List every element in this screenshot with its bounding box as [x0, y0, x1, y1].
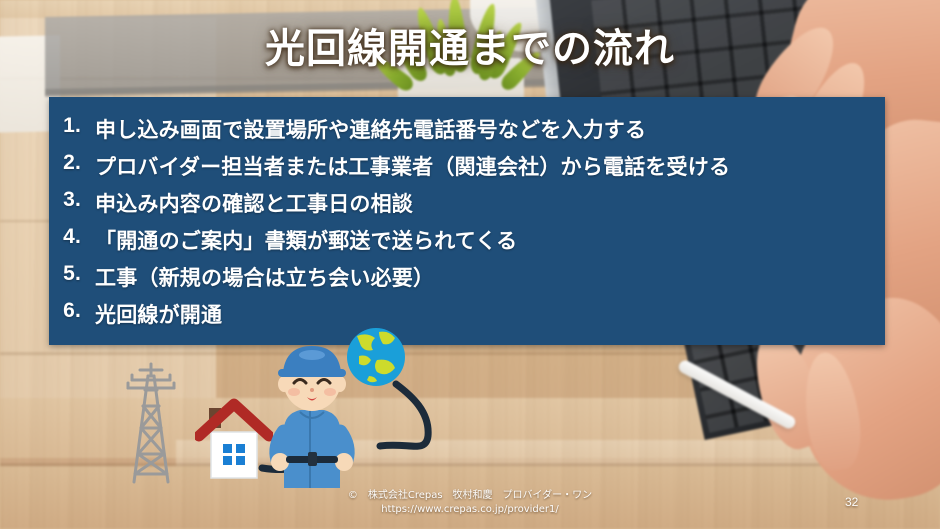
list-item: 5. 工事（新規の場合は立ち会い必要）	[49, 262, 885, 299]
footer-url: https://www.crepas.co.jp/provider1/	[0, 503, 940, 517]
steps-panel: 1. 申し込み画面で設置場所や連絡先電話番号などを入力する 2. プロバイダー担…	[49, 97, 885, 345]
list-item-number: 3.	[49, 188, 95, 212]
globe-icon	[345, 326, 407, 388]
steps-list: 1. 申し込み画面で設置場所や連絡先電話番号などを入力する 2. プロバイダー担…	[49, 97, 885, 345]
list-item-number: 1.	[49, 114, 95, 138]
list-item-number: 4.	[49, 225, 95, 249]
house-icon	[195, 396, 273, 482]
list-item-number: 2.	[49, 151, 95, 175]
list-item-label: 工事（新規の場合は立ち会い必要）	[95, 262, 434, 292]
list-item: 2. プロバイダー担当者または工事業者（関連会社）から電話を受ける	[49, 151, 885, 188]
slide: 光回線開通までの流れ 1. 申し込み画面で設置場所や連絡先電話番号などを入力する…	[0, 0, 940, 529]
list-item-number: 6.	[49, 299, 95, 323]
slide-title: 光回線開通までの流れ	[0, 16, 940, 74]
list-item: 3. 申込み内容の確認と工事日の相談	[49, 188, 885, 225]
list-item-label: 申込み内容の確認と工事日の相談	[95, 188, 413, 218]
list-item-label: 光回線が開通	[95, 299, 222, 329]
list-item: 4. 「開通のご案内」書類が郵送で送られてくる	[49, 225, 885, 262]
footer-copyright: © 株式会社Crepas 牧村和慶 プロバイダー・ワン	[0, 489, 940, 503]
list-item: 1. 申し込み画面で設置場所や連絡先電話番号などを入力する	[49, 114, 885, 151]
list-item-label: プロバイダー担当者または工事業者（関連会社）から電話を受ける	[95, 151, 730, 181]
illustration	[0, 330, 940, 500]
footer: © 株式会社Crepas 牧村和慶 プロバイダー・ワン https://www.…	[0, 489, 940, 517]
transmission-tower-icon	[118, 362, 184, 484]
list-item-label: 申し込み画面で設置場所や連絡先電話番号などを入力する	[95, 114, 646, 144]
list-item-number: 5.	[49, 262, 95, 286]
page-number: 32	[845, 495, 858, 509]
list-item-label: 「開通のご案内」書類が郵送で送られてくる	[95, 225, 517, 255]
